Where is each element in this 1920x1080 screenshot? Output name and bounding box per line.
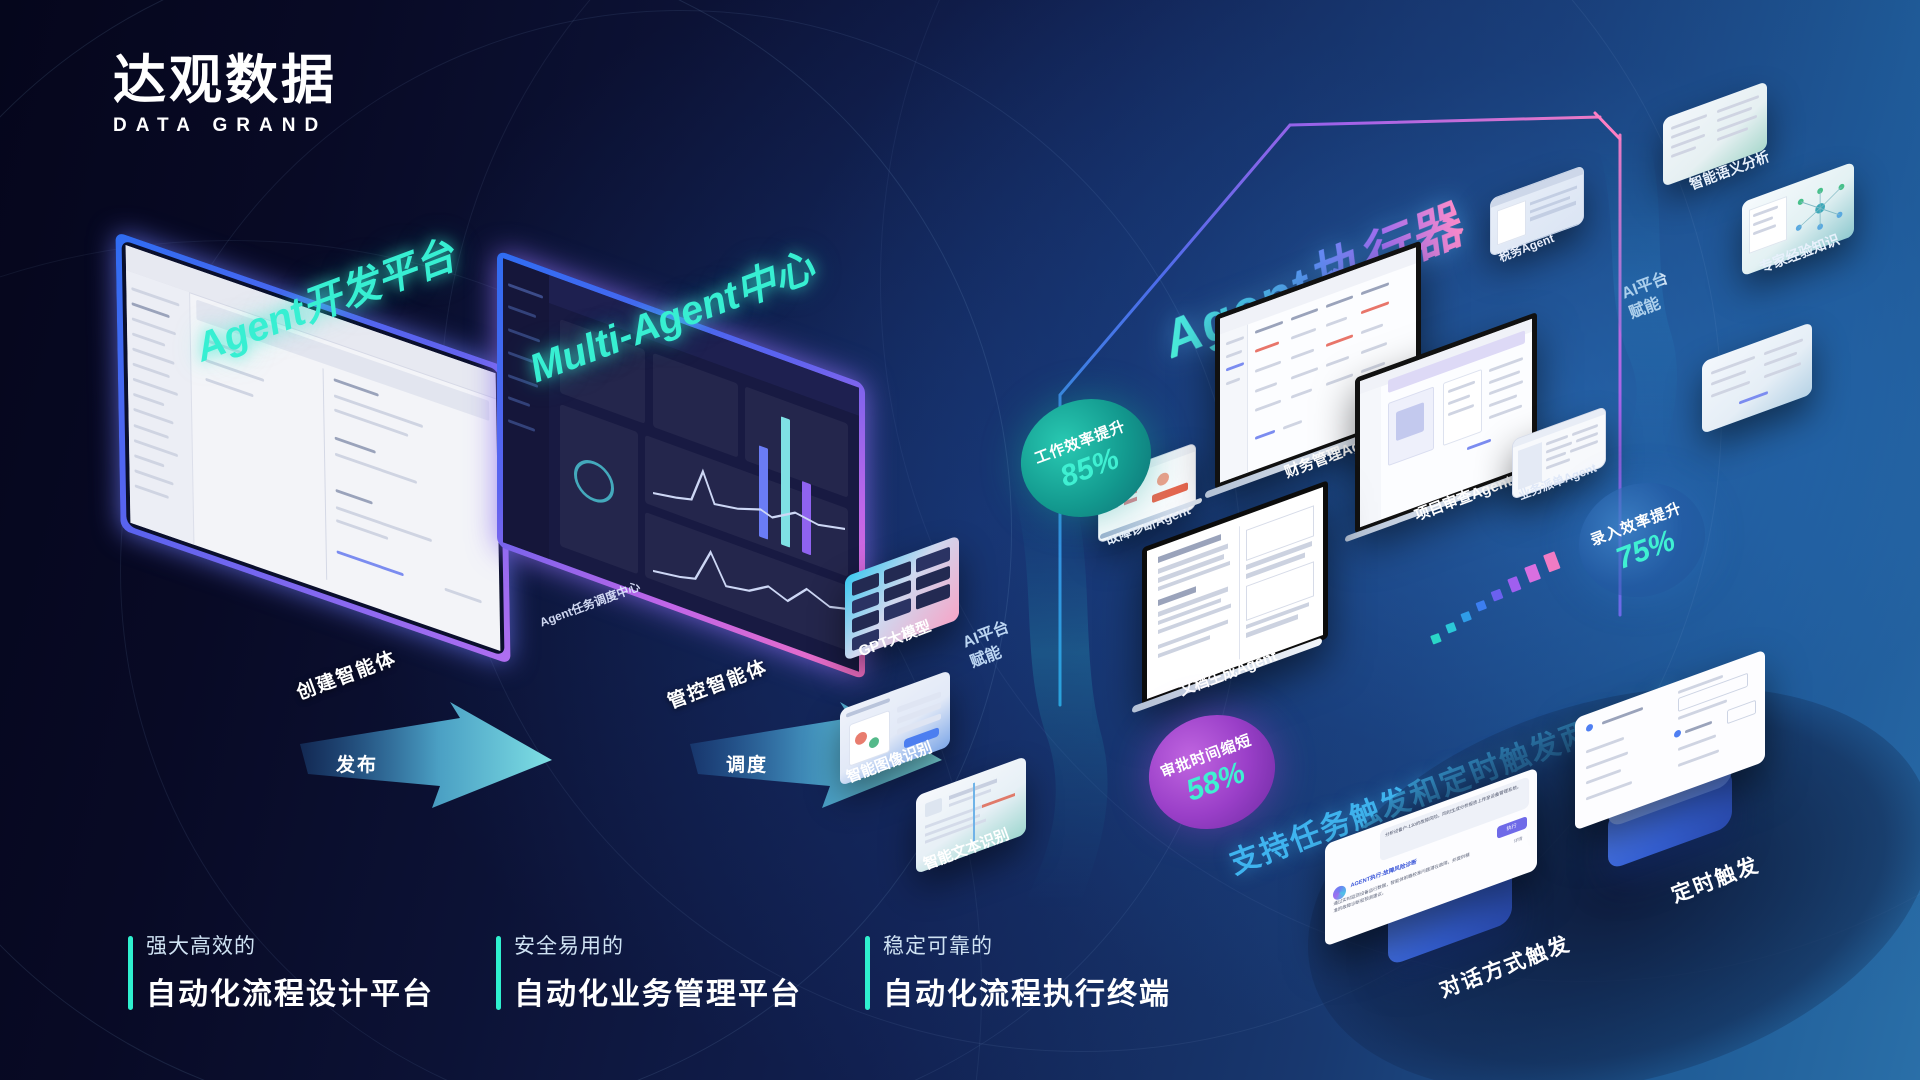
flow-arrow-schedule-label: 调度 [726, 750, 768, 777]
feature-item-manage: 安全易用的 自动化业务管理平台 [496, 930, 802, 1013]
feature-main: 自动化流程执行终端 [883, 969, 1171, 1013]
window-sidebar [126, 270, 194, 545]
chat-execute-button-label: 执行 [1507, 822, 1517, 833]
feature-item-design: 强大高效的 自动化流程设计平台 [128, 930, 434, 1013]
energy-stream-left [1000, 480, 1120, 910]
feature-accent-bar [865, 936, 870, 1010]
feature-accent-bar [496, 936, 501, 1010]
schedule-count-input[interactable] [1727, 700, 1756, 725]
schedule-radio-icon-2[interactable] [1674, 729, 1681, 739]
feature-sub: 稳定可靠的 [883, 930, 1171, 960]
multi-agent-screen-title: Agent任务调度中心 [537, 577, 642, 630]
brand-name-cn: 达观数据 [113, 53, 337, 108]
poster-canvas: 达观数据 DATA GRAND [0, 0, 1920, 1080]
chat-detail-link-label: 详情 [1514, 836, 1523, 844]
feature-sub: 安全易用的 [514, 930, 802, 960]
feature-item-execute: 稳定可靠的 自动化流程执行终端 [865, 930, 1171, 1013]
energy-stream-right [1580, 130, 1690, 480]
brand-name-en: DATA GRAND [113, 115, 337, 137]
feature-strip: 强大高效的 自动化流程设计平台 安全易用的 自动化业务管理平台 稳定可靠的 自动… [0, 930, 1920, 1040]
brand-logo: 达观数据 DATA GRAND [113, 53, 337, 137]
schedule-radio-icon[interactable] [1586, 723, 1593, 733]
feature-sub: 强大高效的 [146, 930, 434, 960]
flow-arrow-publish: 发布 [300, 700, 558, 810]
feature-main: 自动化流程设计平台 [146, 969, 434, 1013]
feature-accent-bar [128, 936, 133, 1010]
chat-detail-link[interactable]: 详情 [1514, 836, 1523, 845]
knowledge-card-extra [1702, 322, 1812, 434]
feature-main: 自动化业务管理平台 [514, 969, 802, 1013]
dashboard-sidebar [503, 258, 549, 559]
dev-platform-caption: 创建智能体 [292, 643, 400, 705]
flow-arrow-publish-label: 发布 [336, 750, 378, 777]
